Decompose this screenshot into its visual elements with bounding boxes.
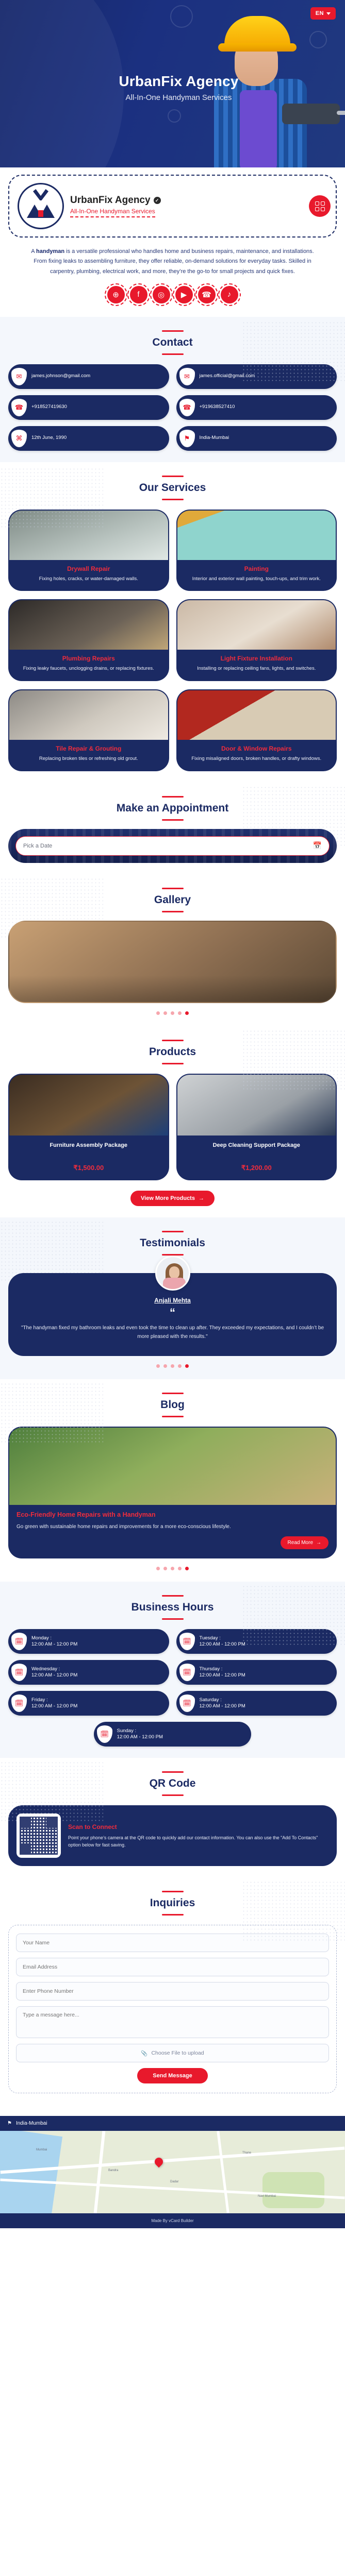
service-description: Fixing misaligned doors, broken handles,… [183,755,331,763]
testimonials-title: Testimonials [8,1231,337,1256]
blog-carousel-dots[interactable] [8,1567,337,1570]
map-pin-icon[interactable] [153,2156,165,2168]
contact-value: India-Mumbai [200,435,229,442]
file-upload-button[interactable]: 📎 Choose File to upload [16,2044,329,2062]
map-road [217,2131,229,2213]
service-image [177,600,336,650]
contact-value: +918527419630 [31,404,67,411]
product-price: ₹1,200.00 [182,1164,332,1172]
brand-block: UrbanFix Agency ✓ All-In-One Handyman Se… [70,195,327,217]
email-icon: ✉ [179,368,195,385]
company-logo [18,183,64,229]
business-hours-row: 🗓 Friday : 12:00 AM - 12:00 PM [8,1691,169,1716]
day-label: Wednesday : [31,1666,60,1672]
social-tiktok-icon[interactable]: ♪ [221,286,238,303]
service-description: Replacing broken tiles or refreshing old… [14,755,163,763]
read-more-label: Read More [288,1540,313,1546]
map-label: Navi Mumbai [258,2195,276,2198]
footer-credit: Made By vCard Builder [0,2213,345,2228]
appointment-section: Make an Appointment Pick a Date 📅 [0,783,345,874]
service-card[interactable]: Light Fixture Installation Installing or… [176,599,337,681]
phone-input[interactable] [16,1982,329,2001]
day-hours: 12:00 AM - 12:00 PM [31,1703,77,1709]
contact-section: Contact ✉ james.johnson@gmail.com ✉ jame… [0,317,345,462]
day-hours: 12:00 AM - 12:00 PM [200,1641,245,1647]
qr-code-image[interactable] [17,1814,61,1858]
carousel-dot-active[interactable] [185,1364,189,1368]
product-name: Furniture Assembly Package [14,1142,163,1158]
contact-value: james.johnson@gmail.com [31,373,90,380]
location-icon: ⚑ [179,430,195,447]
qr-code-button[interactable] [309,195,331,217]
calendar-icon[interactable]: 📅 [313,841,322,850]
business-hours-text: Tuesday : 12:00 AM - 12:00 PM [200,1635,245,1649]
day-hours: 12:00 AM - 12:00 PM [200,1703,245,1709]
business-hours-section: Business Hours 🗓 Monday : 12:00 AM - 12:… [0,1582,345,1758]
carousel-dot[interactable] [171,1567,174,1570]
service-description: Interior and exterior wall painting, tou… [183,575,331,583]
inquiries-title: Inquiries [8,1891,337,1916]
appointment-title: Make an Appointment [8,796,337,821]
service-name: Light Fixture Installation [183,655,331,662]
service-image [9,690,168,740]
service-card[interactable]: Tile Repair & Grouting Replacing broken … [8,689,169,771]
blog-title: Blog [8,1393,337,1417]
qr-description: Point your phone’s camera at the QR code… [68,1834,328,1849]
location-icon: ⚑ [7,2121,12,2126]
carousel-dot[interactable] [178,1011,182,1015]
business-hours-text: Sunday : 12:00 AM - 12:00 PM [117,1728,163,1741]
product-name: Deep Cleaning Support Package [182,1142,332,1158]
inquiries-section: Inquiries 📎 Choose File to upload Send M… [0,1877,345,2105]
services-grid: Drywall Repair Fixing holes, cracks, or … [8,510,337,771]
business-hours-text: Thursday : 12:00 AM - 12:00 PM [200,1666,245,1680]
email-input[interactable] [16,1958,329,1976]
profile-section: UrbanFix Agency ✓ All-In-One Handyman Se… [0,167,345,317]
profile-card: UrbanFix Agency ✓ All-In-One Handyman Se… [8,175,337,238]
blog-section: Blog Eco-Friendly Home Repairs with a Ha… [0,1379,345,1582]
brand-tagline: All-In-One Handyman Services [70,208,155,217]
day-label: Friday : [31,1697,48,1703]
brand-name: UrbanFix Agency [70,195,151,206]
service-image [177,511,336,560]
social-website-icon[interactable]: ⊕ [107,286,125,303]
carousel-dot[interactable] [178,1364,182,1368]
testimonial-author: Anjali Mehta [19,1297,326,1304]
map-location-label: India-Mumbai [16,2121,47,2126]
service-image [177,690,336,740]
map-label: Thane [242,2151,251,2155]
vcard-page: EN UrbanFix Agency All-In-One Handyman S… [0,0,345,2228]
testimonial-carousel-dots[interactable] [8,1364,337,1368]
product-card[interactable]: Furniture Assembly Package ₹1,500.00 [8,1074,169,1180]
social-whatsapp-icon[interactable]: ☎ [198,286,216,303]
service-description: Installing or replacing ceiling fans, li… [183,665,331,673]
date-picker-input[interactable]: Pick a Date 📅 [15,836,330,856]
social-links: ⊕ f ◎ ▶ ☎ ♪ [8,277,337,317]
business-hours-row: 🗓 Monday : 12:00 AM - 12:00 PM [8,1629,169,1654]
social-instagram-icon[interactable]: ◎ [153,286,170,303]
day-label: Thursday : [200,1666,223,1672]
verified-badge-icon: ✓ [154,197,161,204]
business-hours-row: 🗓 Saturday : 12:00 AM - 12:00 PM [176,1691,337,1716]
service-card[interactable]: Plumbing Repairs Fixing leaky faucets, u… [8,599,169,681]
email-icon: ✉ [11,368,27,385]
business-hours-row: 🗓 Thursday : 12:00 AM - 12:00 PM [176,1660,337,1685]
blog-card[interactable]: Eco-Friendly Home Repairs with a Handyma… [8,1427,337,1559]
calendar-clock-icon: 🗓 [179,1694,195,1712]
view-more-products-button[interactable]: View More Products → [130,1191,215,1206]
hero-text-block: UrbanFix Agency All-In-One Handyman Serv… [0,73,345,102]
services-section: Our Services Drywall Repair Fixing holes… [0,462,345,783]
service-name: Door & Window Repairs [183,745,331,752]
gallery-title: Gallery [8,888,337,912]
business-hours-grid: 🗓 Monday : 12:00 AM - 12:00 PM 🗓 Tuesday… [8,1629,337,1747]
calendar-clock-icon: 🗓 [179,1664,195,1681]
service-name: Plumbing Repairs [14,655,163,662]
map-greenspace [262,2172,324,2208]
carousel-dot[interactable] [171,1011,174,1015]
carousel-dot[interactable] [156,1567,160,1570]
carousel-dot-active[interactable] [185,1567,189,1570]
qr-section: QR Code Scan to Connect Point your phone… [0,1758,345,1877]
qr-heading: Scan to Connect [68,1823,328,1831]
map-label: Mumbai [36,2148,47,2151]
inquiry-form: 📎 Choose File to upload Send Message [8,1925,337,2093]
hero-banner: EN UrbanFix Agency All-In-One Handyman S… [0,0,345,167]
service-card[interactable]: Painting Interior and exterior wall pain… [176,510,337,591]
carousel-dot-active[interactable] [185,1011,189,1015]
calendar-clock-icon: 🗓 [179,1633,195,1650]
appointment-box: Pick a Date 📅 [8,829,337,863]
product-image [9,1075,168,1136]
contact-value: +919638527410 [200,404,235,411]
product-price: ₹1,500.00 [14,1164,163,1172]
day-hours: 12:00 AM - 12:00 PM [117,1734,163,1740]
qr-title: QR Code [8,1771,337,1796]
calendar-clock-icon: 🗓 [97,1725,112,1743]
brand-name-row: UrbanFix Agency ✓ [70,195,327,206]
business-hours-text: Saturday : 12:00 AM - 12:00 PM [200,1697,245,1710]
carousel-dot[interactable] [163,1567,167,1570]
carousel-dot[interactable] [178,1567,182,1570]
gear-icon [170,5,193,28]
about-rest: is a versatile professional who handles … [34,248,314,275]
business-hours-text: Wednesday : 12:00 AM - 12:00 PM [31,1666,77,1680]
phone-icon: ☎ [11,399,27,416]
day-label: Saturday : [200,1697,222,1703]
testimonial-avatar [155,1256,190,1291]
message-textarea[interactable] [16,2006,329,2038]
service-card[interactable]: Door & Window Repairs Fixing misaligned … [176,689,337,771]
paperclip-icon: 📎 [141,2050,147,2057]
calendar-clock-icon: 🗓 [11,1633,27,1650]
business-hours-row: 🗓 Sunday : 12:00 AM - 12:00 PM [94,1722,252,1747]
social-facebook-icon[interactable]: f [130,286,147,303]
service-description: Fixing leaky faucets, unclogging drains,… [14,665,163,673]
contact-phone-2[interactable]: ☎ +919638527410 [176,395,337,420]
qr-grid-icon [315,201,325,211]
contact-phone-1[interactable]: ☎ +918527419630 [8,395,169,420]
carousel-dot[interactable] [171,1364,174,1368]
calendar-clock-icon: 🗓 [11,1694,27,1712]
service-image [9,600,168,650]
contact-location[interactable]: ⚑ India-Mumbai [176,426,337,451]
phone-icon: ☎ [179,399,195,416]
blog-post-description: Go green with sustainable home repairs a… [17,1523,328,1532]
business-hours-text: Monday : 12:00 AM - 12:00 PM [31,1635,77,1649]
testimonials-section: Testimonials Anjali Mehta “ "The handyma… [0,1217,345,1379]
service-name: Tile Repair & Grouting [14,745,163,752]
products-title: Products [8,1040,337,1064]
products-section: Products Furniture Assembly Package ₹1,5… [0,1026,345,1217]
business-hours-title: Business Hours [8,1595,337,1620]
house-tools-icon [27,194,55,218]
day-label: Monday : [31,1635,52,1641]
gear-icon [168,109,181,123]
carousel-dot[interactable] [163,1011,167,1015]
hero-subtitle: All-In-One Handyman Services [12,93,345,102]
arrow-right-icon: → [199,1195,204,1201]
map-label: Bandra [108,2169,118,2172]
contact-email-1[interactable]: ✉ james.johnson@gmail.com [8,364,169,389]
day-hours: 12:00 AM - 12:00 PM [31,1672,77,1678]
day-label: Sunday : [117,1728,137,1734]
day-label: Tuesday : [200,1635,221,1641]
hero-title: UrbanFix Agency [12,73,345,90]
about-lead: A [31,248,36,255]
read-more-button[interactable]: Read More → [281,1536,328,1549]
day-hours: 12:00 AM - 12:00 PM [31,1641,77,1647]
arrow-right-icon: → [316,1540,321,1546]
carousel-dot[interactable] [163,1364,167,1368]
map-view[interactable]: Mumbai Bandra Dadar Thane Navi Mumbai [0,2131,345,2213]
gallery-image[interactable] [8,921,337,1003]
file-upload-label: Choose File to upload [151,2050,204,2056]
contact-title: Contact [8,330,337,355]
service-description: Fixing holes, cracks, or water-damaged w… [14,575,163,583]
view-more-label: View More Products [141,1195,195,1201]
day-hours: 12:00 AM - 12:00 PM [200,1672,245,1678]
gallery-carousel-dots[interactable] [8,1011,337,1015]
gallery-section: Gallery [0,874,345,1026]
carousel-dot[interactable] [156,1364,160,1368]
map-road [94,2131,106,2214]
blog-post-title: Eco-Friendly Home Repairs with a Handyma… [17,1511,328,1518]
business-hours-text: Friday : 12:00 AM - 12:00 PM [31,1697,77,1710]
carousel-dot[interactable] [156,1011,160,1015]
contact-value: 12th June, 1990 [31,435,67,442]
services-title: Our Services [8,476,337,500]
calendar-clock-icon: 🗓 [11,1664,27,1681]
about-paragraph: A handyman is a versatile professional w… [8,238,337,277]
map-label: Dadar [170,2180,178,2183]
about-bold: handyman [36,248,64,255]
business-hours-row: 🗓 Wednesday : 12:00 AM - 12:00 PM [8,1660,169,1685]
social-youtube-icon[interactable]: ▶ [175,286,193,303]
quote-icon: “ [19,1307,326,1318]
contact-birthday[interactable]: ⌘ 12th June, 1990 [8,426,169,451]
service-name: Drywall Repair [14,565,163,572]
date-placeholder: Pick a Date [23,843,52,849]
map-location-header: ⚑ India-Mumbai [0,2116,345,2131]
chevron-down-icon [326,12,331,15]
service-name: Painting [183,565,331,572]
cake-icon: ⌘ [11,430,27,447]
send-message-button[interactable]: Send Message [137,2068,207,2083]
testimonial-text: "The handyman fixed my bathroom leaks an… [19,1324,326,1342]
